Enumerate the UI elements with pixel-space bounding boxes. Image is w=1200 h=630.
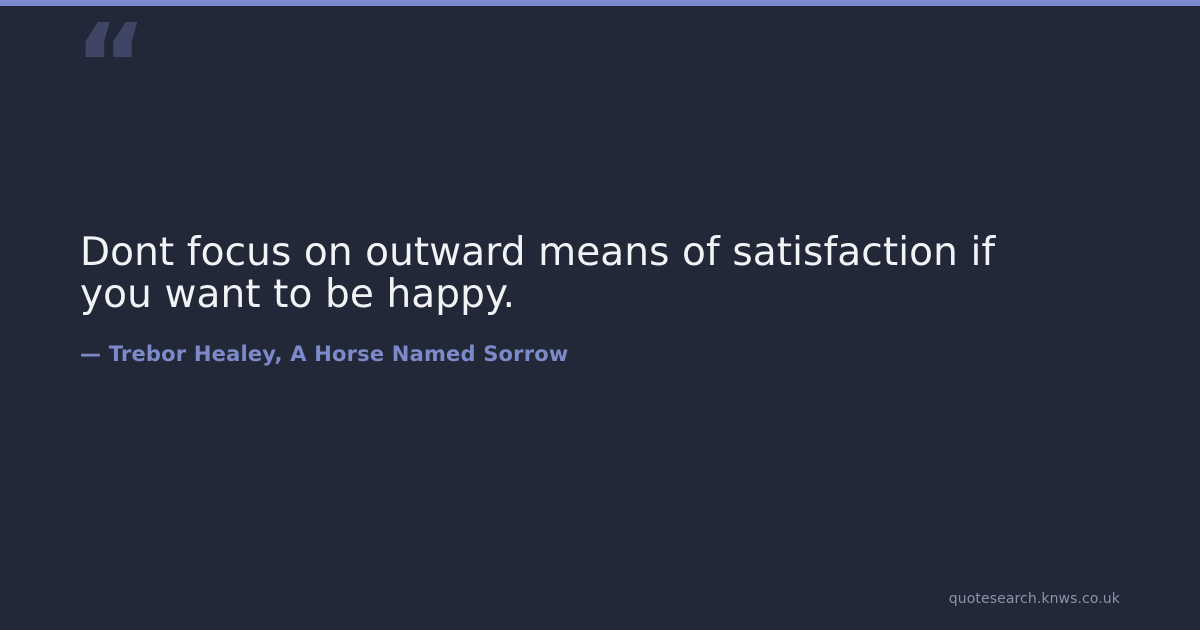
quote-content: Dont focus on outward means of satisfact…: [80, 232, 1120, 368]
quote-attribution: — Trebor Healey, A Horse Named Sorrow: [80, 340, 1120, 368]
quote-card: “ Dont focus on outward means of satisfa…: [0, 0, 1200, 630]
site-watermark: quotesearch.knws.co.uk: [949, 590, 1120, 608]
quote-text: Dont focus on outward means of satisfact…: [80, 232, 1060, 316]
opening-quote-icon: “: [74, 6, 194, 126]
